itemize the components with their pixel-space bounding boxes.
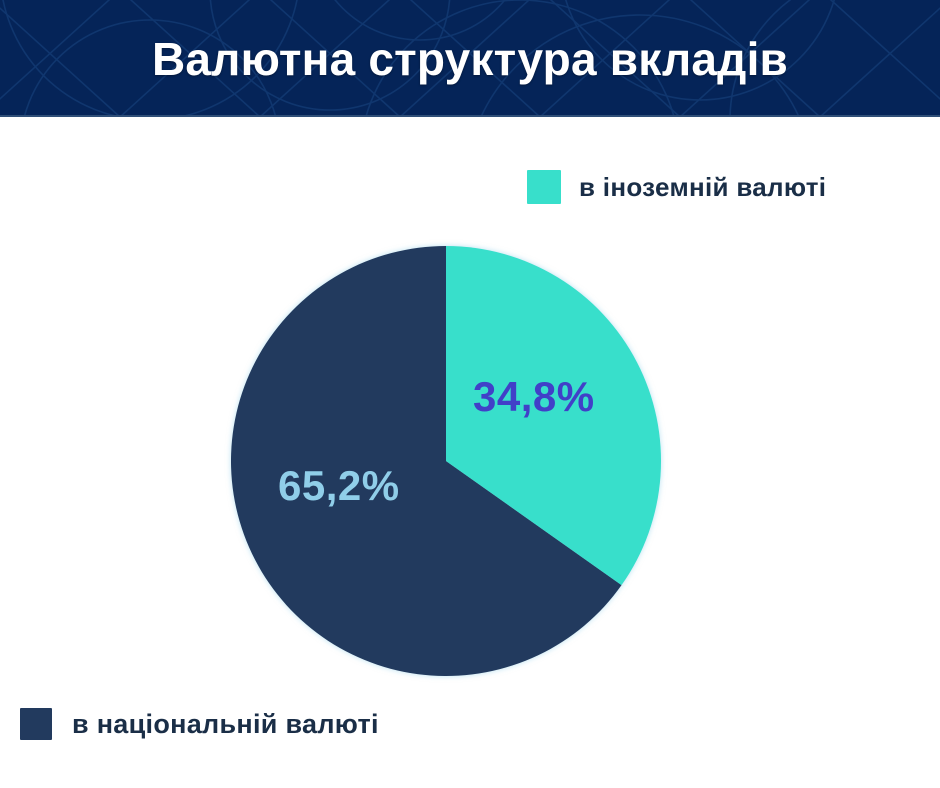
legend-label-foreign: в іноземній валюті — [579, 172, 826, 203]
legend-item-national-currency[interactable]: в національній валюті — [20, 708, 379, 740]
legend-swatch-foreign-icon — [527, 170, 561, 204]
legend-item-foreign-currency[interactable]: в іноземній валюті — [527, 170, 826, 204]
pie-chart — [231, 246, 661, 676]
pie-chart-svg — [231, 246, 661, 676]
legend-swatch-national-icon — [20, 708, 52, 740]
pie-value-label-foreign: 34,8% — [473, 373, 595, 421]
pie-value-label-national: 65,2% — [278, 462, 400, 510]
header-banner: Валютна структура вкладів — [0, 0, 940, 117]
page-title: Валютна структура вкладів — [0, 0, 940, 117]
legend-label-national: в національній валюті — [72, 709, 379, 740]
